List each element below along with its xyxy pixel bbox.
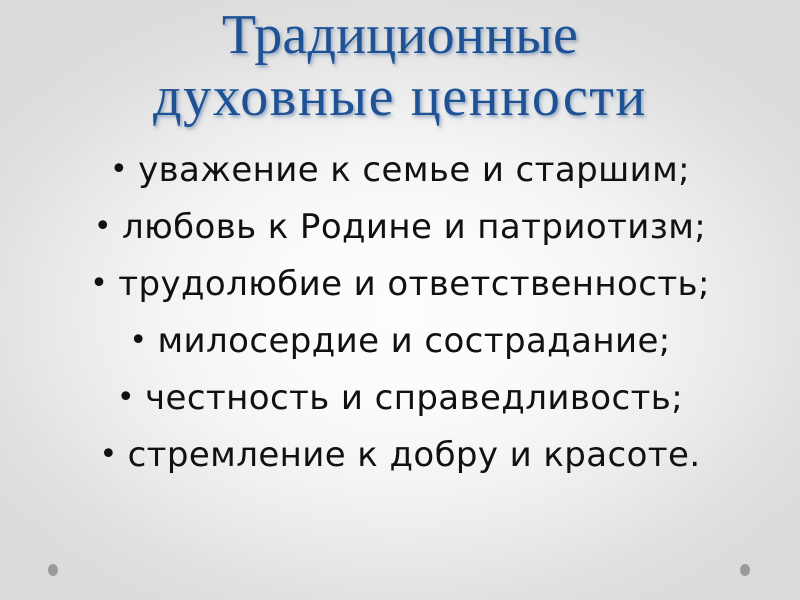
list-item-label: уважение к семье и старшим; <box>138 150 690 190</box>
list-item-label: трудолюбие и ответственность; <box>118 264 710 304</box>
bullet-point-icon: • <box>94 212 112 242</box>
slide-title-line-2: духовные ценности <box>10 66 790 128</box>
list-item: •любовь к Родине и патриотизм; <box>0 199 800 256</box>
bullet-point-icon: • <box>90 269 108 299</box>
slide-title-line-1: Традиционные <box>10 4 790 66</box>
list-item: •милосердие и сострадание; <box>0 313 800 370</box>
decorative-dot-bottom-right <box>740 564 750 576</box>
bullet-point-icon: • <box>110 155 128 185</box>
list-item-label: милосердие и сострадание; <box>157 321 670 361</box>
list-item-label: стремление к добру и красоте. <box>128 435 701 475</box>
bullet-point-icon: • <box>117 383 135 413</box>
decorative-dot-bottom-left <box>48 564 58 576</box>
list-item-label: честность и справедливость; <box>145 378 683 418</box>
presentation-slide: Традиционные духовные ценности •уважение… <box>0 0 800 600</box>
list-item: •трудолюбие и ответственность; <box>0 256 800 313</box>
list-item: •стремление к добру и красоте. <box>0 427 800 484</box>
bullet-point-icon: • <box>129 326 147 356</box>
bullet-point-icon: • <box>99 440 117 470</box>
list-item: •уважение к семье и старшим; <box>0 142 800 199</box>
list-item-label: любовь к Родине и патриотизм; <box>122 207 706 247</box>
values-bullet-list: •уважение к семье и старшим; •любовь к Р… <box>0 142 800 484</box>
slide-title: Традиционные духовные ценности <box>0 4 800 128</box>
list-item: •честность и справедливость; <box>0 370 800 427</box>
